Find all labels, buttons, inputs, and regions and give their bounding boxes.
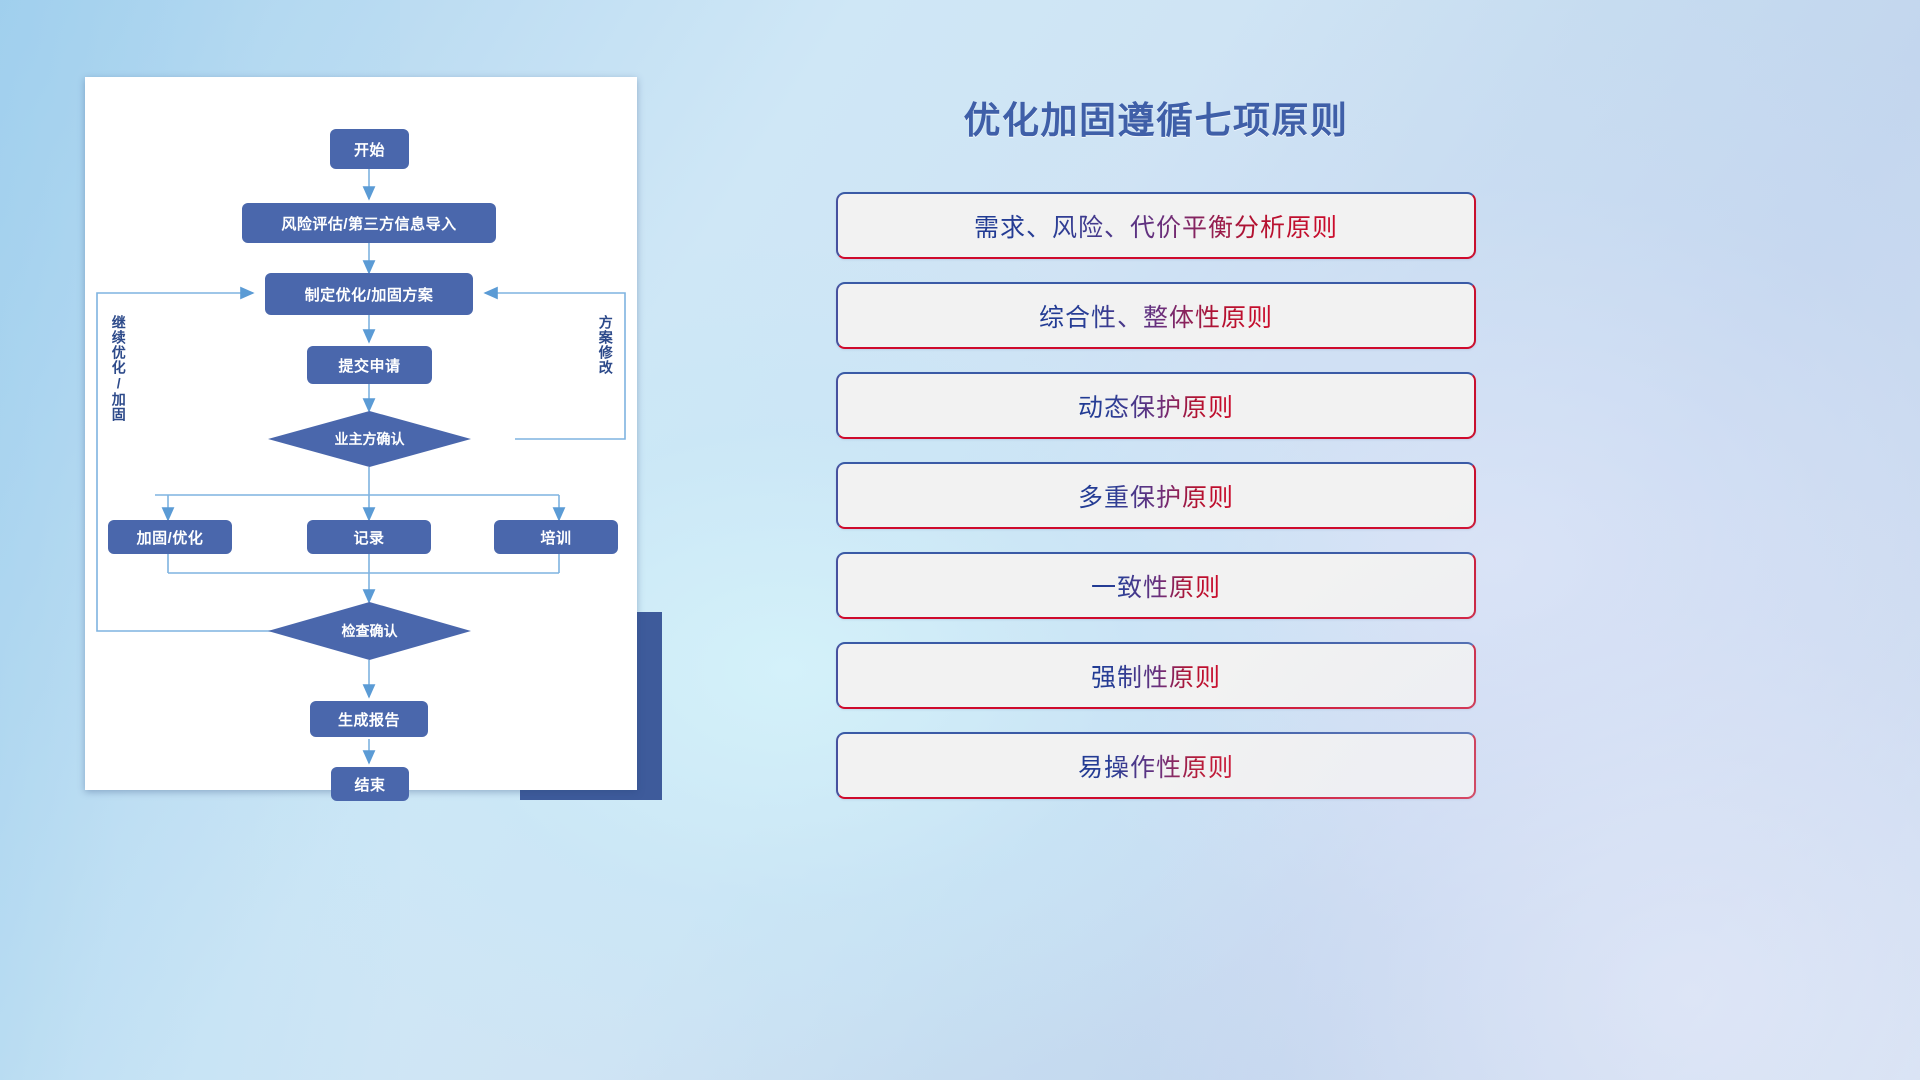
flow-node-risk-assessment[interactable]: 风险评估/第三方信息导入 xyxy=(242,203,496,243)
flow-node-training[interactable]: 培训 xyxy=(494,520,618,554)
flow-edge-label-right-loop: 方案修改 xyxy=(598,315,613,411)
flow-node-record[interactable]: 记录 xyxy=(307,520,431,554)
flow-node-report[interactable]: 生成报告 xyxy=(310,701,428,737)
slide-root: 开始 风险评估/第三方信息导入 制定优化/加固方案 提交申请 业主方确认 加固/… xyxy=(0,0,1920,1080)
principles-list: 需求、风险、代价平衡分析原则 综合性、整体性原则 动态保护原则 多重保护原则 一… xyxy=(836,192,1476,822)
flow-node-label: 记录 xyxy=(353,527,384,548)
flow-node-end[interactable]: 结束 xyxy=(331,767,409,801)
flow-node-submit[interactable]: 提交申请 xyxy=(307,346,432,384)
principles-title: 优化加固遵循七项原则 xyxy=(836,90,1476,144)
flow-node-label: 制定优化/加固方案 xyxy=(305,284,434,305)
flow-node-plan[interactable]: 制定优化/加固方案 xyxy=(265,273,473,315)
flow-node-start[interactable]: 开始 xyxy=(330,129,409,169)
principle-item[interactable]: 需求、风险、代价平衡分析原则 xyxy=(836,192,1476,259)
flow-node-label: 生成报告 xyxy=(338,709,400,730)
flow-node-label: 检查确认 xyxy=(342,621,398,641)
principle-item[interactable]: 多重保护原则 xyxy=(836,462,1476,529)
principle-label: 综合性、整体性原则 xyxy=(1039,298,1273,334)
flow-edge-label-left-loop: 继续优化/加固 xyxy=(111,315,126,445)
principle-item[interactable]: 动态保护原则 xyxy=(836,372,1476,439)
flow-node-label: 加固/优化 xyxy=(137,527,204,548)
principle-item[interactable]: 一致性原则 xyxy=(836,552,1476,619)
flow-node-label: 业主方确认 xyxy=(335,429,405,449)
principle-label: 一致性原则 xyxy=(1091,568,1221,604)
flow-node-label: 结束 xyxy=(354,774,385,795)
principle-label: 需求、风险、代价平衡分析原则 xyxy=(974,208,1338,244)
principle-label: 易操作性原则 xyxy=(1078,748,1234,784)
principle-label: 强制性原则 xyxy=(1091,658,1221,694)
flowchart-card: 开始 风险评估/第三方信息导入 制定优化/加固方案 提交申请 业主方确认 加固/… xyxy=(85,77,637,790)
principle-item[interactable]: 强制性原则 xyxy=(836,642,1476,709)
principle-label: 多重保护原则 xyxy=(1078,478,1234,514)
principle-item[interactable]: 易操作性原则 xyxy=(836,732,1476,799)
principle-label: 动态保护原则 xyxy=(1078,388,1234,424)
flow-node-label: 风险评估/第三方信息导入 xyxy=(281,213,456,234)
flow-node-label: 培训 xyxy=(540,527,571,548)
flow-node-label: 提交申请 xyxy=(338,355,400,376)
flow-node-reinforce[interactable]: 加固/优化 xyxy=(108,520,232,554)
principle-item[interactable]: 综合性、整体性原则 xyxy=(836,282,1476,349)
flow-node-label: 开始 xyxy=(354,139,385,160)
